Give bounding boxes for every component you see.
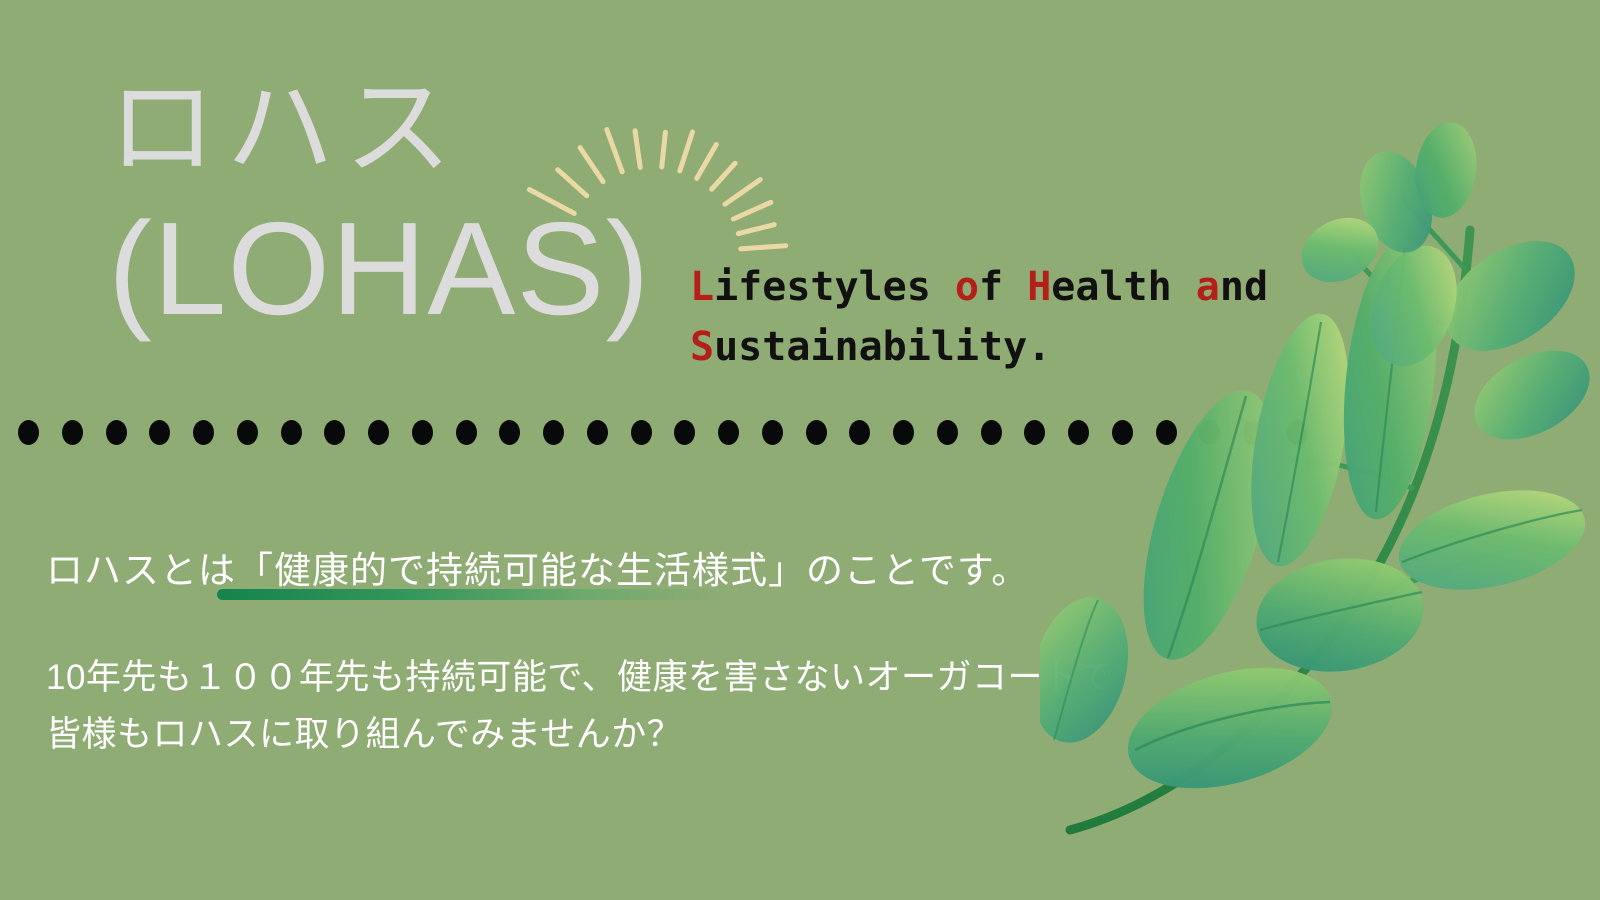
acronym-line-2: Sustainability.	[690, 317, 1268, 377]
body-line-1: 10年先も１００年先も持続可能で、健康を害さないオーガコートで	[46, 650, 1114, 707]
body-line-2: 皆様もロハスに取り組んでみませんか？	[46, 707, 1114, 764]
divider-dot	[1243, 420, 1264, 445]
divider-dot	[631, 420, 652, 445]
divider-dot	[62, 420, 83, 445]
page-title: ロハス (LOHAS)	[108, 70, 728, 342]
dotted-divider	[18, 417, 1308, 447]
divider-dot	[412, 420, 433, 445]
acronym-run-5: ealth	[1051, 264, 1196, 310]
acronym-run-0: L	[690, 264, 714, 310]
acronym-run-1: ustainability.	[714, 324, 1051, 370]
divider-dot	[981, 420, 1002, 445]
acronym-run-7: nd	[1220, 264, 1268, 310]
divider-dot	[1199, 420, 1220, 445]
divider-dot	[18, 420, 39, 445]
divider-dot	[193, 420, 214, 445]
divider-dot	[324, 420, 345, 445]
acronym-run-6: a	[1196, 264, 1220, 310]
acronym-run-3: f	[979, 264, 1027, 310]
divider-dot	[499, 420, 520, 445]
watercolor-leaf-branch-icon	[1040, 110, 1600, 870]
divider-dot	[674, 420, 695, 445]
divider-dot	[849, 420, 870, 445]
lead-text: ロハスとは「健康的で持続可能な生活様式」のことです。	[46, 540, 1029, 594]
poster-canvas: ロハス (LOHAS) Lifestyles of Health and Sus…	[0, 0, 1600, 900]
acronym-run-1: ifestyles	[714, 264, 955, 310]
acronym-line-1: Lifestyles of Health and	[690, 257, 1268, 317]
divider-dot	[281, 420, 302, 445]
divider-dot	[1156, 420, 1177, 445]
divider-dot	[762, 420, 783, 445]
acronym-run-2: o	[955, 264, 979, 310]
divider-dot	[1024, 420, 1045, 445]
divider-dot	[1287, 420, 1308, 445]
divider-dot	[237, 420, 258, 445]
divider-dot	[368, 420, 389, 445]
divider-dot	[106, 420, 127, 445]
divider-dot	[1112, 420, 1133, 445]
divider-dot	[937, 420, 958, 445]
divider-dot	[718, 420, 739, 445]
acronym-run-4: H	[1027, 264, 1051, 310]
divider-dot	[806, 420, 827, 445]
divider-dot	[1068, 420, 1089, 445]
sunburst-ray-10	[730, 199, 774, 222]
sunburst-ray-11	[735, 222, 777, 237]
divider-dot	[543, 420, 564, 445]
title-english: (LOHAS)	[108, 195, 728, 343]
title-japanese: ロハス	[108, 70, 728, 187]
acronym-expansion: Lifestyles of Health and Sustainability.	[690, 257, 1268, 377]
divider-dot	[893, 420, 914, 445]
sunburst-ray-12	[738, 243, 788, 251]
lead-underline	[217, 589, 732, 600]
body-paragraph: 10年先も１００年先も持続可能で、健康を害さないオーガコートで 皆様もロハスに取…	[46, 650, 1114, 763]
acronym-run-0: S	[690, 324, 714, 370]
divider-dot	[149, 420, 170, 445]
divider-dot	[587, 420, 608, 445]
divider-dot	[456, 420, 477, 445]
